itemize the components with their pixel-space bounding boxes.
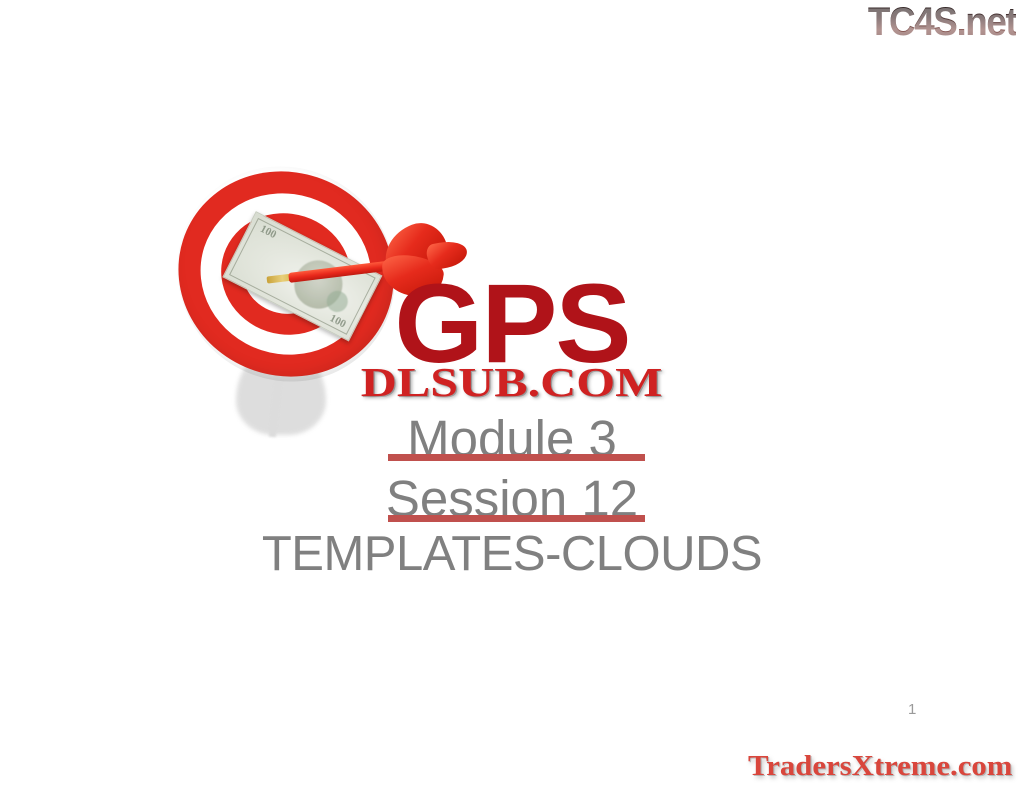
tc4s-brand-logo: TC4S.net [868, 2, 1016, 42]
page-title: GPS [0, 268, 1024, 380]
slide-canvas: TC4S.net 100 100 GPS Module 3 [0, 0, 1024, 791]
page-number: 1 [908, 701, 916, 718]
bill-denomination-left: 100 [258, 223, 278, 241]
divider-under-module [388, 454, 645, 461]
tradersxtreme-brand-logo: TradersXtreme.com [748, 752, 1012, 781]
subtitle-topic: TEMPLATES-CLOUDS [0, 530, 1024, 579]
divider-under-session [388, 515, 645, 522]
